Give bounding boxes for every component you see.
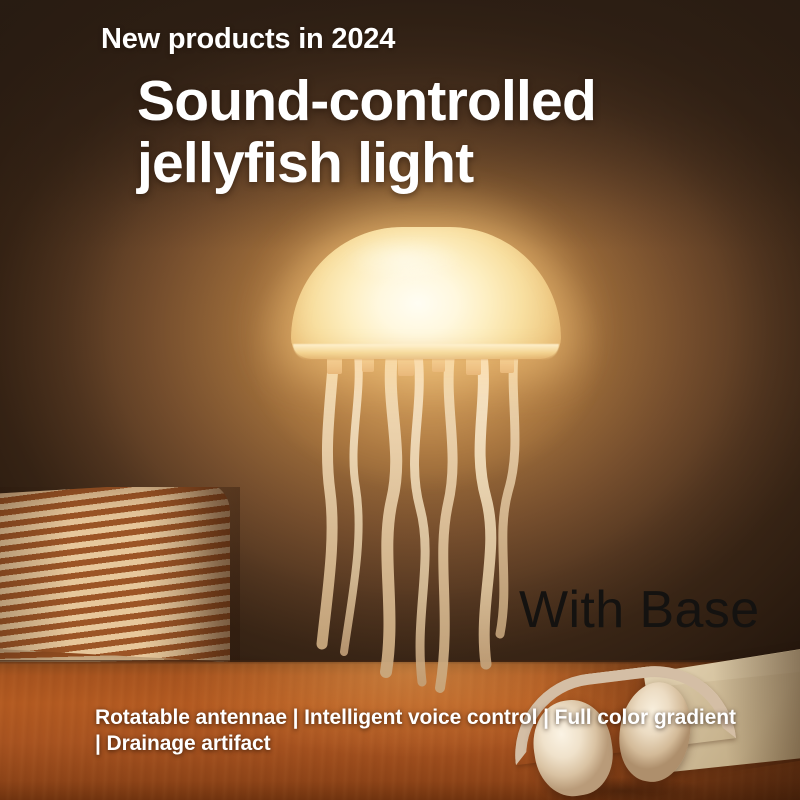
with-base-label: With Base [519, 580, 760, 640]
eyebrow-text: New products in 2024 [101, 23, 395, 56]
dome-bottom-rim [293, 344, 559, 360]
dome-highlight [330, 237, 480, 293]
page-title: Sound-controlled jellyfish light [137, 71, 737, 194]
feature-list-text: Rotatable antennae | Intelligent voice c… [95, 705, 745, 756]
headline-line-1: Sound-controlled [137, 69, 596, 133]
tentacles-svg [300, 352, 560, 712]
jellyfish-tentacles [300, 352, 560, 712]
product-ad-canvas: New products in 2024 Sound-controlled je… [0, 0, 800, 800]
headline-line-2: jellyfish light [137, 133, 737, 195]
